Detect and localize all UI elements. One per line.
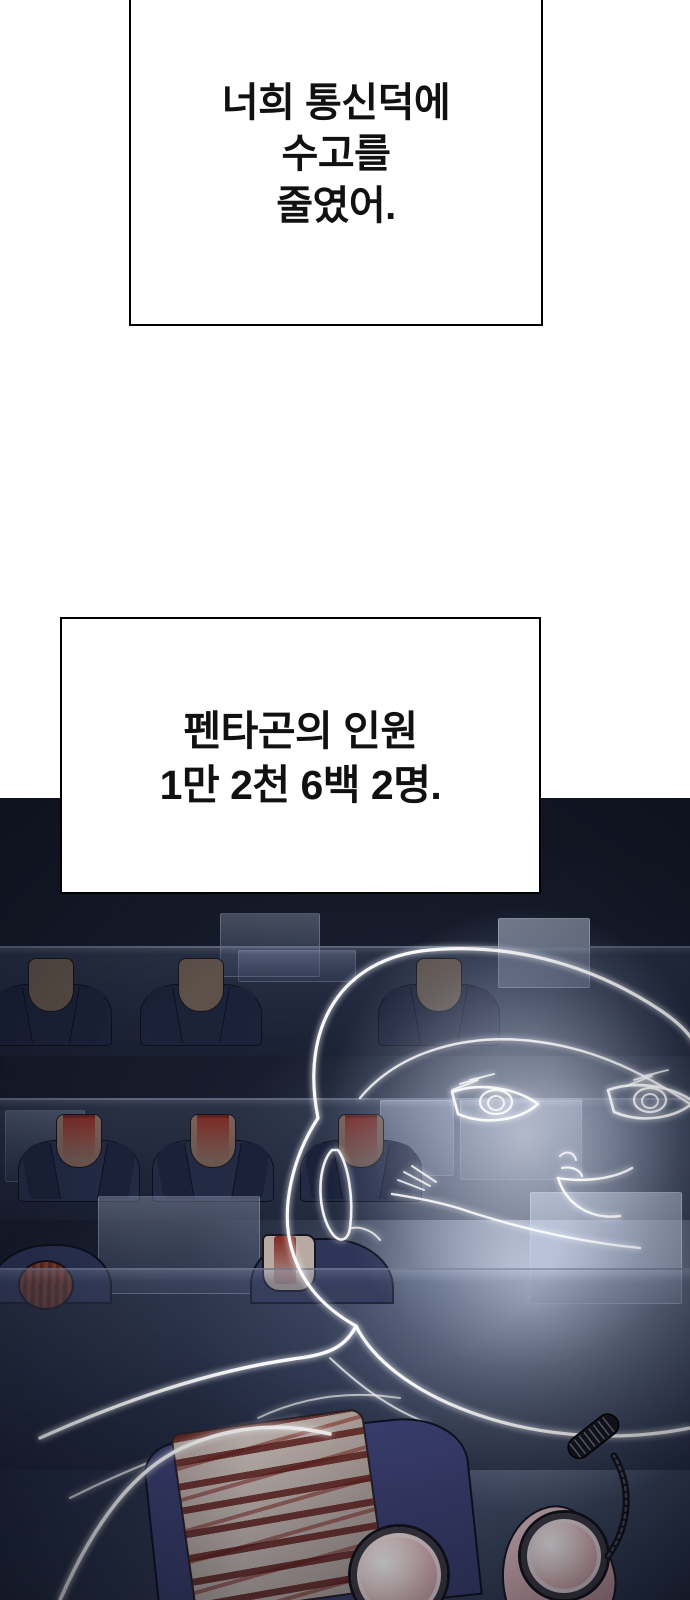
headset-mic-boom [490, 1398, 690, 1578]
seated-body-t2-a [18, 1114, 138, 1200]
speech-bubble-second-text: 펜타곤의 인원 1만 2천 6백 2명. [160, 705, 442, 812]
speech-bubble-first-text: 너희 통신덕에 수고를 줄였어. [222, 78, 450, 232]
speech-bubble-second: 펜타곤의 인원 1만 2천 6백 2명. [60, 617, 541, 894]
seated-body-t1-a [0, 958, 110, 1044]
art-panel-bottom [0, 798, 690, 1600]
seated-body-t2-c [300, 1114, 420, 1200]
seated-body-t2-b [152, 1114, 272, 1200]
speech-bubble-first: 너희 통신덕에 수고를 줄였어. [129, 0, 543, 326]
seated-body-t1-c [378, 958, 498, 1044]
comic-page: 너희 통신덕에 수고를 줄였어. 펜타곤의 인원 1만 2천 6백 2명. [0, 0, 690, 1600]
seated-body-t1-b [140, 958, 260, 1044]
